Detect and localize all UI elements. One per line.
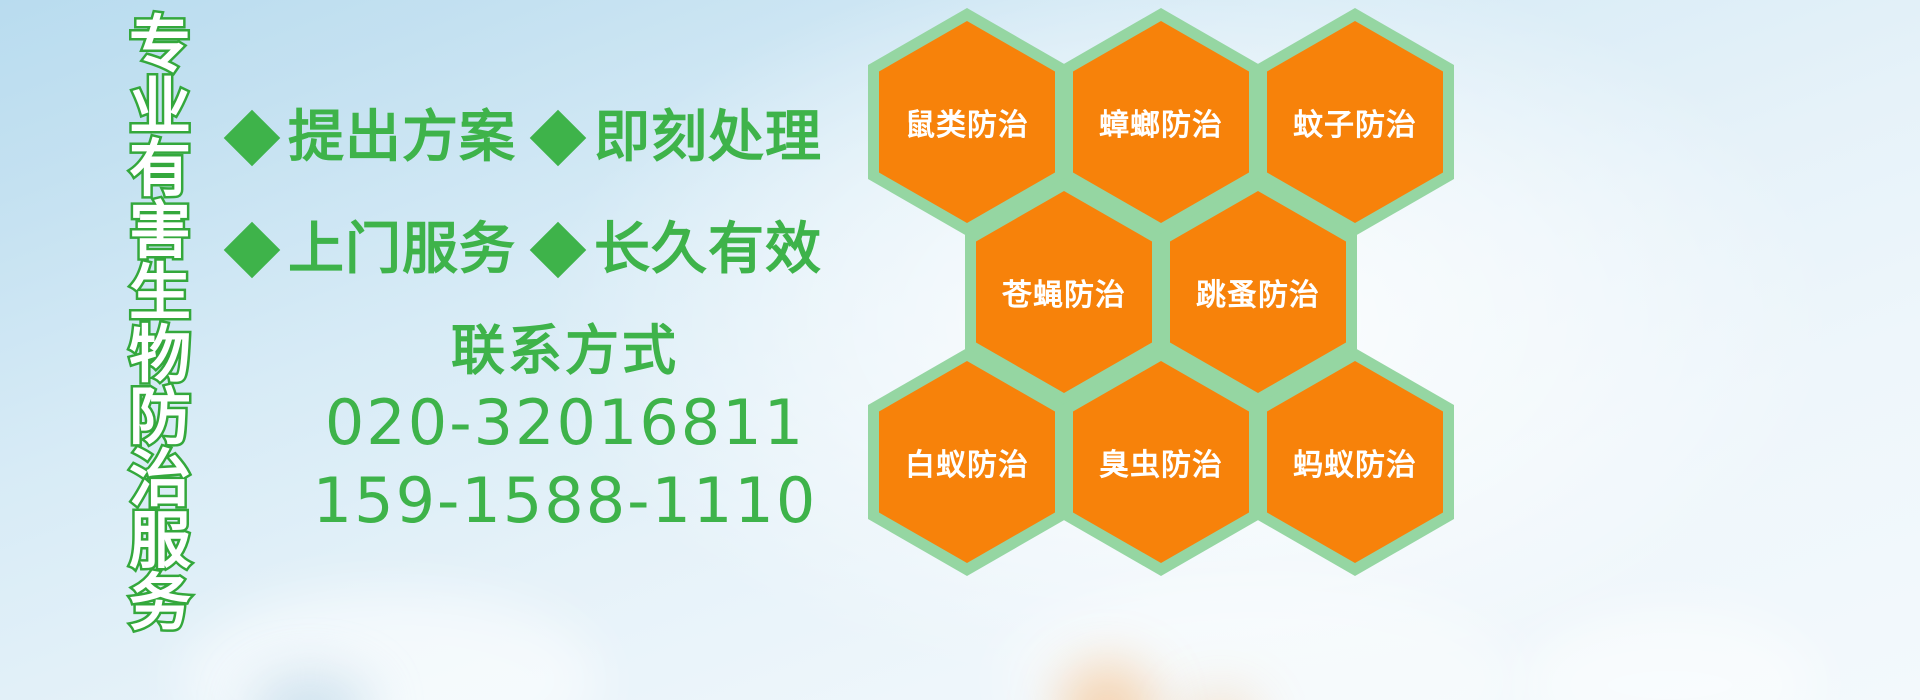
headline-char: 专 [112, 14, 208, 76]
background-blob [1520, 610, 1820, 700]
feature-label: 即刻处理 [594, 110, 822, 166]
vertical-headline: 专业有害生物防治服务 [112, 14, 208, 634]
feature-label: 提出方案 [288, 110, 516, 166]
headline-char: 务 [112, 572, 208, 634]
background-blob [1000, 580, 1520, 700]
service-label: 蚂蚁防治 [1293, 440, 1417, 484]
background-blob [1060, 663, 1155, 700]
service-label: 蚊子防治 [1293, 100, 1417, 144]
headline-char: 防 [112, 386, 208, 448]
headline-char: 服 [112, 510, 208, 572]
diamond-icon [530, 222, 587, 279]
service-hex-ant[interactable]: 蚂蚁防治 [1256, 348, 1454, 576]
background-blob [250, 675, 370, 700]
headline-char: 治 [112, 448, 208, 510]
diamond-icon [530, 110, 587, 167]
pest-control-banner: 专业有害生物防治服务 提出方案 即刻处理 上门服务 长久有效 联系方式 0 [0, 0, 1920, 700]
feature-label: 长久有效 [594, 222, 822, 278]
headline-char: 物 [112, 324, 208, 386]
background-blob [180, 590, 600, 700]
feature-list: 提出方案 即刻处理 上门服务 长久有效 [232, 82, 872, 306]
diamond-icon [224, 222, 281, 279]
feature-item: 即刻处理 [538, 110, 822, 166]
headline-char: 生 [112, 262, 208, 324]
service-label: 臭虫防治 [1099, 440, 1223, 484]
service-label: 白蚁防治 [905, 440, 1029, 484]
background-blob [1180, 690, 1260, 700]
service-hex-bedbug[interactable]: 臭虫防治 [1062, 348, 1260, 576]
phone-number-mobile[interactable]: 159-1588-1110 [300, 462, 830, 540]
service-hex-termite[interactable]: 白蚁防治 [868, 348, 1066, 576]
contact-block: 联系方式 020-32016811 159-1588-1110 [300, 318, 830, 540]
service-label: 跳蚤防治 [1196, 270, 1320, 314]
feature-row: 上门服务 长久有效 [232, 194, 872, 306]
service-label: 鼠类防治 [905, 100, 1029, 144]
headline-char: 业 [112, 76, 208, 138]
service-label: 蟑螂防治 [1099, 100, 1223, 144]
feature-item: 长久有效 [538, 222, 822, 278]
feature-item: 提出方案 [232, 110, 516, 166]
feature-item: 上门服务 [232, 222, 516, 278]
feature-row: 提出方案 即刻处理 [232, 82, 872, 194]
headline-char: 有 [112, 138, 208, 200]
feature-label: 上门服务 [288, 222, 516, 278]
headline-char: 害 [112, 200, 208, 262]
service-honeycomb: 鼠类防治 蟑螂防治 蚊子防治 苍蝇防治 跳蚤防治 白蚁防治 [860, 0, 1460, 560]
phone-number-landline[interactable]: 020-32016811 [300, 384, 830, 462]
diamond-icon [224, 110, 281, 167]
service-label: 苍蝇防治 [1002, 270, 1126, 314]
contact-title: 联系方式 [300, 318, 830, 384]
